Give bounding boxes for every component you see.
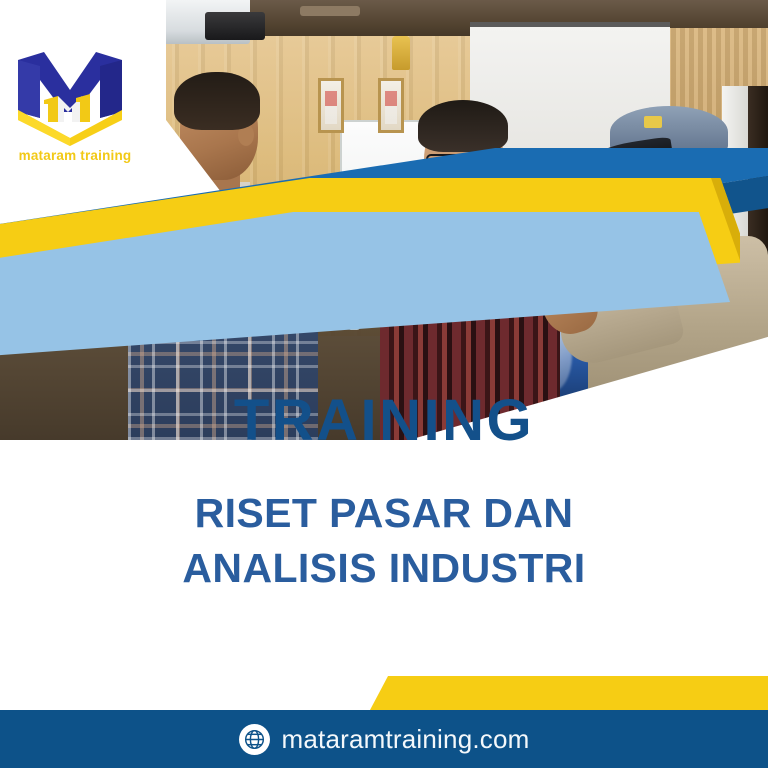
footer-url-text[interactable]: mataramtraining.com [282, 724, 530, 755]
mataram-m-logo-icon [14, 46, 126, 146]
footer-bar: mataramtraining.com [0, 710, 768, 768]
subtitle-line-2: ANALISIS INDUSTRI [0, 541, 768, 596]
footer-yellow-accent [370, 676, 768, 710]
footer-content[interactable]: mataramtraining.com [239, 724, 530, 755]
brand-logo[interactable]: mataram training [14, 46, 136, 171]
trophy [392, 36, 410, 70]
projector-unit [205, 12, 265, 40]
page-subtitle: RISET PASAR DAN ANALISIS INDUSTRI [0, 486, 768, 595]
globe-icon [239, 724, 270, 755]
hair [174, 72, 260, 130]
cap-logo [644, 116, 662, 128]
logo-wordmark: mataram training [14, 148, 136, 163]
subtitle-line-1: RISET PASAR DAN [0, 486, 768, 541]
poster-canvas: mataram training TRAINING RISET PASAR DA… [0, 0, 768, 768]
headline-block: TRAINING RISET PASAR DAN ANALISIS INDUST… [0, 392, 768, 595]
page-title: TRAINING [0, 392, 768, 450]
hair [418, 100, 508, 152]
wall-portrait-left [318, 78, 344, 133]
